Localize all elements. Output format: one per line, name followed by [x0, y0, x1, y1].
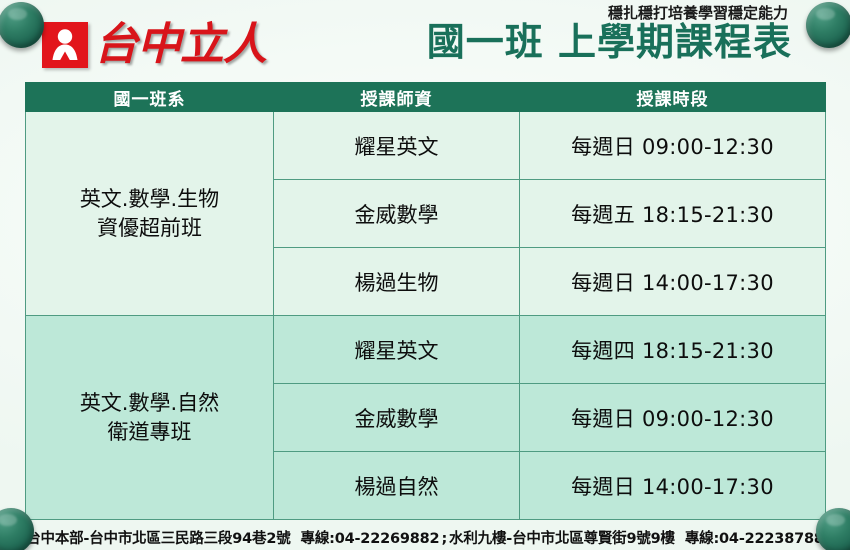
column-header-class: 國一班系	[26, 83, 274, 112]
class-name-cell: 英文.數學.自然 衛道專班	[26, 316, 274, 520]
teacher-cell: 楊過生物	[274, 248, 520, 316]
teacher-cell: 金威數學	[274, 384, 520, 452]
person-in-square-icon	[42, 22, 88, 68]
page-title: 國一班 上學期課程表	[427, 23, 792, 63]
timeslot-cell: 每週日 14:00-17:30	[520, 452, 826, 520]
teacher-cell: 金威數學	[274, 180, 520, 248]
teacher-cell: 耀星英文	[274, 112, 520, 180]
table-row: 英文.數學.自然 衛道專班 耀星英文 每週四 18:15-21:30	[26, 316, 826, 384]
timeslot-cell: 每週日 09:00-12:30	[520, 384, 826, 452]
timeslot-cell: 每週日 09:00-12:30	[520, 112, 826, 180]
branch1-address: 台中本部-台中市北區三民路三段94巷2號	[26, 531, 290, 547]
table-header-row: 國一班系 授課師資 授課時段	[26, 83, 826, 112]
footer-separator: ;	[439, 531, 449, 547]
column-header-teacher: 授課師資	[274, 83, 520, 112]
branch1-phone: 專線:04-22269882	[301, 531, 440, 547]
branch2-address: 水利九樓-台中市北區尊賢街9號9樓	[449, 531, 675, 547]
corner-knob-top-right-icon	[806, 2, 850, 48]
poster-header: 台中立人 穩扎穩打培養學習穩定能力 國一班 上學期課程表	[0, 0, 850, 82]
footer-contact-bar: 台中本部-台中市北區三民路三段94巷2號專線:04-22269882;水利九樓-…	[0, 527, 850, 548]
timeslot-cell: 每週四 18:15-21:30	[520, 316, 826, 384]
branch2-phone: 專線:04-22238788	[685, 531, 824, 547]
teacher-cell: 耀星英文	[274, 316, 520, 384]
schedule-table: 國一班系 授課師資 授課時段 英文.數學.生物 資優超前班 耀星英文 每週日 0…	[25, 82, 826, 520]
timeslot-cell: 每週日 14:00-17:30	[520, 248, 826, 316]
brand-name: 台中立人	[94, 23, 266, 67]
corner-knob-top-left-icon	[0, 2, 44, 48]
class-name-cell: 英文.數學.生物 資優超前班	[26, 112, 274, 316]
column-header-timeslot: 授課時段	[520, 83, 826, 112]
teacher-cell: 楊過自然	[274, 452, 520, 520]
table-row: 英文.數學.生物 資優超前班 耀星英文 每週日 09:00-12:30	[26, 112, 826, 180]
timeslot-cell: 每週五 18:15-21:30	[520, 180, 826, 248]
brand-lockup: 台中立人	[42, 22, 266, 68]
course-schedule-poster: 台中立人 穩扎穩打培養學習穩定能力 國一班 上學期課程表 國一班系 授課師資 授…	[0, 0, 850, 550]
title-block: 穩扎穩打培養學習穩定能力 國一班 上學期課程表	[427, 4, 792, 63]
